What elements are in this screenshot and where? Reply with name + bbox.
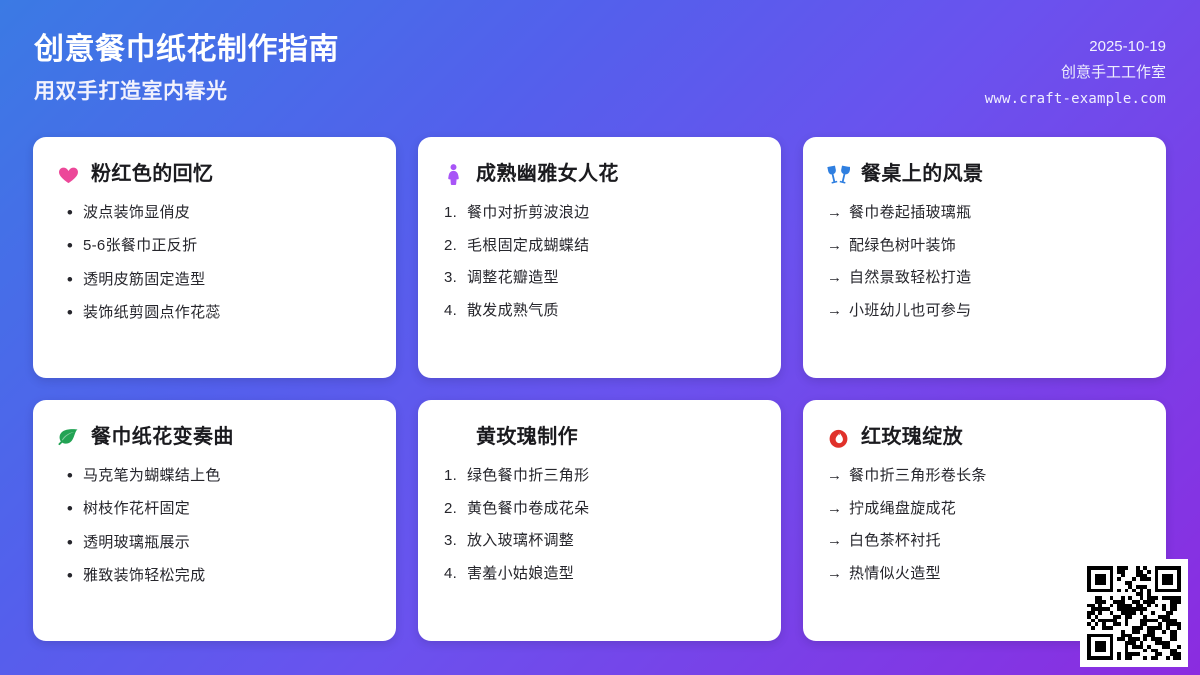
card-list: •马克笔为蝴蝶结上色•树枝作花杆固定•透明玻璃瓶展示•雅致装饰轻松完成 <box>57 466 372 587</box>
card-list: 1.绿色餐巾折三角形2.黄色餐巾卷成花朵3.放入玻璃杯调整4.害羞小姑娘造型 <box>442 466 757 583</box>
card-title: 红玫瑰绽放 <box>861 425 963 449</box>
list-item-text: 餐巾对折剪波浪边 <box>467 203 757 223</box>
bullet-marker: • <box>57 303 83 323</box>
card-grid: 粉红色的回忆•波点装饰显俏皮•5-6张餐巾正反折•透明皮筋固定造型•装饰纸剪圆点… <box>33 137 1167 641</box>
bullet-marker: • <box>57 270 83 290</box>
card-header: 红玫瑰绽放 <box>827 422 1142 452</box>
arrow-marker: → <box>827 203 849 223</box>
list-item: 4.散发成熟气质 <box>442 301 757 321</box>
list-item-text: 透明玻璃瓶展示 <box>83 533 372 553</box>
number-marker: 3. <box>442 268 467 288</box>
list-item: →餐巾折三角形卷长条 <box>827 466 1142 486</box>
bullet-marker: • <box>57 466 83 486</box>
qr-code-pattern <box>1087 566 1181 660</box>
woman-icon <box>442 163 465 186</box>
list-item: 1.餐巾对折剪波浪边 <box>442 203 757 223</box>
list-item-text: 调整花瓣造型 <box>467 268 757 288</box>
number-marker: 3. <box>442 531 467 551</box>
list-item: →配绿色树叶装饰 <box>827 236 1142 256</box>
list-item-text: 自然景致轻松打造 <box>849 268 1142 288</box>
arrow-marker: → <box>827 301 849 321</box>
list-item: 4.害羞小姑娘造型 <box>442 564 757 584</box>
list-item-text: 波点装饰显俏皮 <box>83 203 372 223</box>
card-title: 餐巾纸花变奏曲 <box>91 425 234 449</box>
list-item: •透明皮筋固定造型 <box>57 270 372 290</box>
card-list: 1.餐巾对折剪波浪边2.毛根固定成蝴蝶结3.调整花瓣造型4.散发成熟气质 <box>442 203 757 320</box>
card-title: 粉红色的回忆 <box>91 162 213 186</box>
card-title: 黄玫瑰制作 <box>476 425 578 449</box>
list-item-text: 白色茶杯衬托 <box>849 531 1142 551</box>
content-card: 餐巾纸花变奏曲•马克笔为蝴蝶结上色•树枝作花杆固定•透明玻璃瓶展示•雅致装饰轻松… <box>33 400 396 641</box>
list-item-text: 雅致装饰轻松完成 <box>83 566 372 586</box>
arrow-marker: → <box>827 466 849 486</box>
list-item-text: 透明皮筋固定造型 <box>83 270 372 290</box>
arrow-marker: → <box>827 564 849 584</box>
list-item-text: 绿色餐巾折三角形 <box>467 466 757 486</box>
slide: 创意餐巾纸花制作指南 用双手打造室内春光 2025-10-19 创意手工工作室 … <box>0 0 1200 675</box>
card-icon-placeholder <box>442 426 465 449</box>
list-item-text: 散发成熟气质 <box>467 301 757 321</box>
list-item: •雅致装饰轻松完成 <box>57 566 372 586</box>
clinking-glasses-icon <box>827 163 850 186</box>
card-header: 粉红色的回忆 <box>57 159 372 189</box>
number-marker: 2. <box>442 236 467 256</box>
content-card: 成熟幽雅女人花1.餐巾对折剪波浪边2.毛根固定成蝴蝶结3.调整花瓣造型4.散发成… <box>418 137 781 378</box>
list-item-text: 5-6张餐巾正反折 <box>83 236 372 256</box>
list-item: 1.绿色餐巾折三角形 <box>442 466 757 486</box>
pink-heart-icon <box>57 163 80 186</box>
list-item-text: 马克笔为蝴蝶结上色 <box>83 466 372 486</box>
list-item-text: 小班幼儿也可参与 <box>849 301 1142 321</box>
page-title: 创意餐巾纸花制作指南 <box>34 32 339 69</box>
header-meta-block: 2025-10-19 创意手工工作室 www.craft-example.com <box>985 26 1166 109</box>
header-organization: 创意手工工作室 <box>1061 62 1166 84</box>
list-item-text: 拧成绳盘旋成花 <box>849 499 1142 519</box>
slide-header: 创意餐巾纸花制作指南 用双手打造室内春光 2025-10-19 创意手工工作室 … <box>0 0 1200 130</box>
number-marker: 4. <box>442 564 467 584</box>
list-item-text: 装饰纸剪圆点作花蕊 <box>83 303 372 323</box>
page-subtitle: 用双手打造室内春光 <box>34 79 339 104</box>
card-header: 餐桌上的风景 <box>827 159 1142 189</box>
number-marker: 1. <box>442 203 467 223</box>
header-title-block: 创意餐巾纸花制作指南 用双手打造室内春光 <box>34 26 339 104</box>
list-item: →自然景致轻松打造 <box>827 268 1142 288</box>
card-header: 成熟幽雅女人花 <box>442 159 757 189</box>
card-title: 成熟幽雅女人花 <box>476 162 619 186</box>
list-item-text: 毛根固定成蝴蝶结 <box>467 236 757 256</box>
list-item: •5-6张餐巾正反折 <box>57 236 372 256</box>
number-marker: 2. <box>442 499 467 519</box>
list-item: •透明玻璃瓶展示 <box>57 533 372 553</box>
list-item-text: 害羞小姑娘造型 <box>467 564 757 584</box>
list-item: →小班幼儿也可参与 <box>827 301 1142 321</box>
content-card: 餐桌上的风景→餐巾卷起插玻璃瓶→配绿色树叶装饰→自然景致轻松打造→小班幼儿也可参… <box>803 137 1166 378</box>
bullet-marker: • <box>57 236 83 256</box>
list-item: 2.黄色餐巾卷成花朵 <box>442 499 757 519</box>
arrow-marker: → <box>827 236 849 256</box>
list-item: 3.调整花瓣造型 <box>442 268 757 288</box>
content-card: 粉红色的回忆•波点装饰显俏皮•5-6张餐巾正反折•透明皮筋固定造型•装饰纸剪圆点… <box>33 137 396 378</box>
header-date: 2025-10-19 <box>1089 36 1166 58</box>
list-item: 3.放入玻璃杯调整 <box>442 531 757 551</box>
list-item-text: 配绿色树叶装饰 <box>849 236 1142 256</box>
card-header: 餐巾纸花变奏曲 <box>57 422 372 452</box>
qr-code[interactable] <box>1080 559 1188 667</box>
number-marker: 1. <box>442 466 467 486</box>
header-url: www.craft-example.com <box>985 89 1166 109</box>
list-item-text: 餐巾折三角形卷长条 <box>849 466 1142 486</box>
list-item: 2.毛根固定成蝴蝶结 <box>442 236 757 256</box>
list-item-text: 放入玻璃杯调整 <box>467 531 757 551</box>
fire-icon <box>827 426 850 449</box>
list-item: •树枝作花杆固定 <box>57 499 372 519</box>
list-item-text: 黄色餐巾卷成花朵 <box>467 499 757 519</box>
bullet-marker: • <box>57 203 83 223</box>
bullet-marker: • <box>57 499 83 519</box>
arrow-marker: → <box>827 499 849 519</box>
card-list: →餐巾卷起插玻璃瓶→配绿色树叶装饰→自然景致轻松打造→小班幼儿也可参与 <box>827 203 1142 320</box>
list-item-text: 树枝作花杆固定 <box>83 499 372 519</box>
arrow-marker: → <box>827 268 849 288</box>
card-list: •波点装饰显俏皮•5-6张餐巾正反折•透明皮筋固定造型•装饰纸剪圆点作花蕊 <box>57 203 372 324</box>
content-card: 黄玫瑰制作1.绿色餐巾折三角形2.黄色餐巾卷成花朵3.放入玻璃杯调整4.害羞小姑… <box>418 400 781 641</box>
card-header: 黄玫瑰制作 <box>442 422 757 452</box>
list-item: •装饰纸剪圆点作花蕊 <box>57 303 372 323</box>
leaf-icon <box>57 426 80 449</box>
list-item: •马克笔为蝴蝶结上色 <box>57 466 372 486</box>
list-item-text: 餐巾卷起插玻璃瓶 <box>849 203 1142 223</box>
arrow-marker: → <box>827 531 849 551</box>
list-item: →拧成绳盘旋成花 <box>827 499 1142 519</box>
bullet-marker: • <box>57 533 83 553</box>
card-title: 餐桌上的风景 <box>861 162 983 186</box>
list-item: •波点装饰显俏皮 <box>57 203 372 223</box>
list-item: →餐巾卷起插玻璃瓶 <box>827 203 1142 223</box>
list-item: →白色茶杯衬托 <box>827 531 1142 551</box>
bullet-marker: • <box>57 566 83 586</box>
number-marker: 4. <box>442 301 467 321</box>
